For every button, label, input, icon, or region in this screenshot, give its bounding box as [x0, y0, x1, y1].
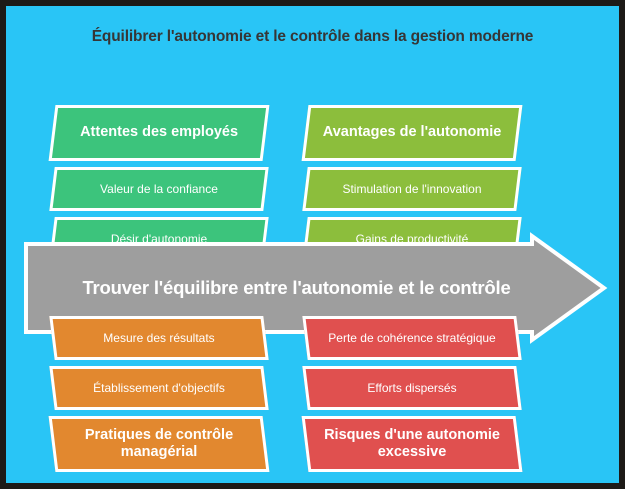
banner-top-right-item-1: Stimulation de l'innovation: [302, 167, 521, 211]
banner-label: Mesure des résultats: [67, 331, 251, 345]
page-title: Équilibrer l'autonomie et le contrôle da…: [6, 28, 619, 47]
banner-bottom-left-item-1: Mesure des résultats: [49, 316, 268, 360]
banner-label: Risques d'une autonomie excessive: [320, 427, 504, 461]
banner-bottom-right-item-1: Perte de cohérence stratégique: [302, 316, 521, 360]
banner-bottom-left-heading: Pratiques de contrôle managérial: [49, 416, 270, 472]
banner-label: Pratiques de contrôle managérial: [67, 427, 251, 461]
infographic-background: Équilibrer l'autonomie et le contrôle da…: [6, 6, 619, 483]
banner-top-right-heading: Avantages de l'autonomie: [302, 105, 523, 161]
banner-top-left-item-1: Valeur de la confiance: [49, 167, 268, 211]
banner-label: Valeur de la confiance: [67, 182, 251, 196]
banner-label: Avantages de l'autonomie: [320, 124, 504, 141]
banner-top-left-heading: Attentes des employés: [49, 105, 270, 161]
banner-bottom-left-item-2: Établissement d'objectifs: [49, 366, 268, 410]
banner-bottom-right-item-2: Efforts dispersés: [302, 366, 521, 410]
banner-label: Perte de cohérence stratégique: [320, 331, 504, 345]
banner-label: Efforts dispersés: [320, 381, 504, 395]
infographic-canvas: Équilibrer l'autonomie et le contrôle da…: [0, 0, 625, 489]
banner-label: Stimulation de l'innovation: [320, 182, 504, 196]
banner-bottom-right-heading: Risques d'une autonomie excessive: [302, 416, 523, 472]
banner-label: Établissement d'objectifs: [67, 381, 251, 395]
banner-label: Attentes des employés: [67, 124, 251, 141]
